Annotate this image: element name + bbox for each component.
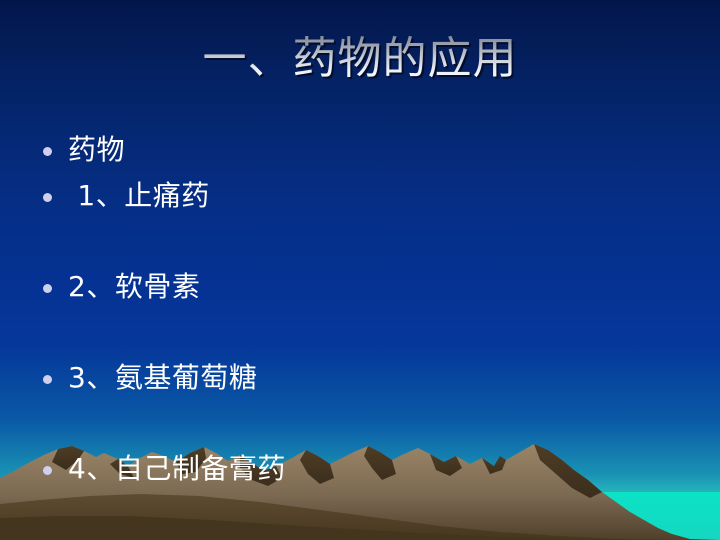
bullet-dot-icon	[43, 284, 52, 293]
presentation-slide: 一、药物的应用 药物 1、止痛药 2、软骨素 3、氨基葡萄糖 4、自己制备膏药	[0, 0, 720, 540]
list-item[interactable]: 1、止痛药	[36, 177, 696, 223]
list-item[interactable]: 3、氨基葡萄糖	[36, 359, 696, 405]
slide-body-content: 药物 1、止痛药 2、软骨素 3、氨基葡萄糖 4、自己制备膏药	[36, 131, 696, 496]
list-spacer	[36, 313, 696, 359]
bullet-dot-icon	[43, 193, 52, 202]
list-item-label: 药物	[68, 131, 696, 169]
slide-title: 一、药物的应用	[0, 33, 720, 85]
list-item[interactable]: 药物	[36, 131, 696, 177]
list-spacer	[36, 222, 696, 268]
list-item-label: 2、软骨素	[68, 268, 696, 306]
bullet-dot-icon	[43, 466, 52, 475]
list-item-label: 1、止痛药	[68, 177, 696, 215]
list-item-label: 3、氨基葡萄糖	[68, 359, 696, 397]
list-spacer	[36, 405, 696, 451]
bullet-dot-icon	[43, 147, 52, 156]
list-item-label: 4、自己制备膏药	[68, 450, 696, 488]
list-item[interactable]: 4、自己制备膏药	[36, 450, 696, 496]
list-item[interactable]: 2、软骨素	[36, 268, 696, 314]
bullet-dot-icon	[43, 375, 52, 384]
